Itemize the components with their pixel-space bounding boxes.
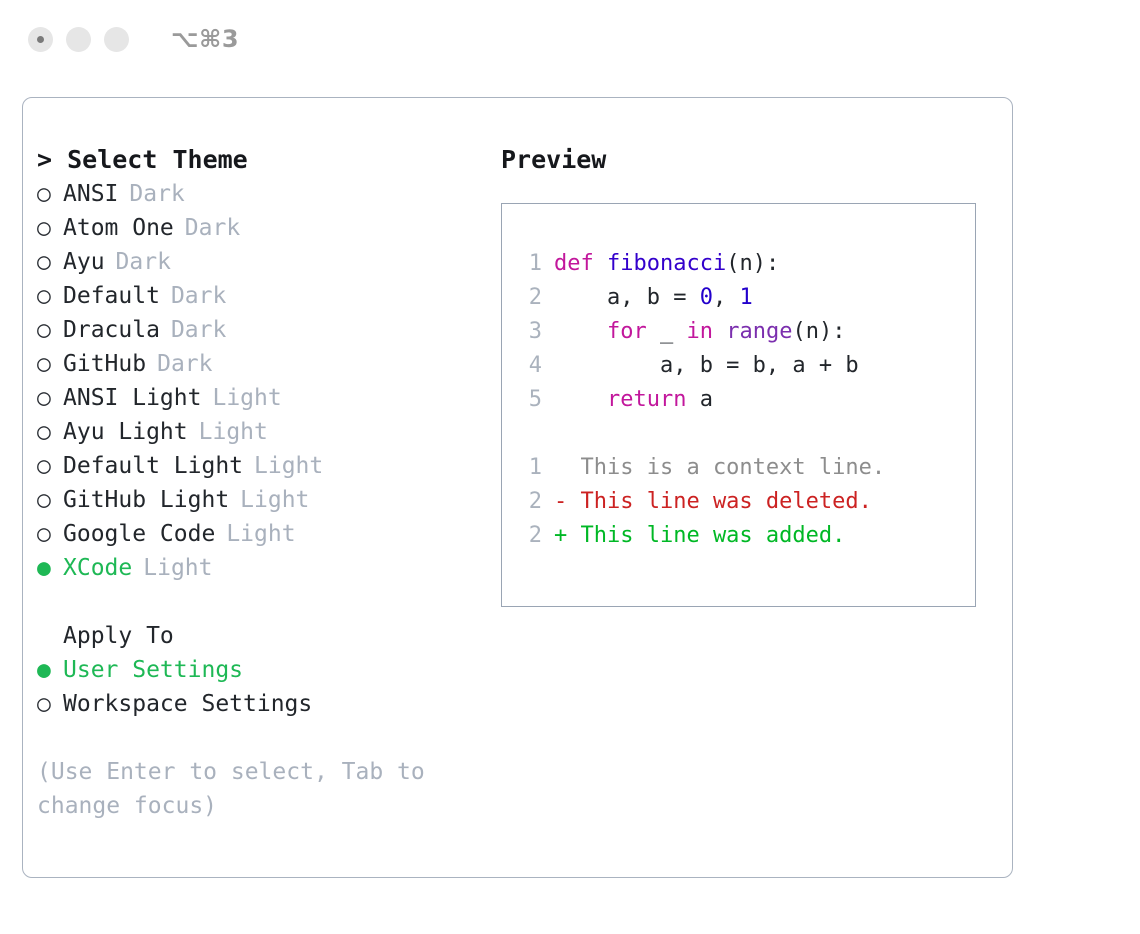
radio-unselected-icon[interactable]: ○ (37, 279, 63, 313)
theme-name: Dracula (63, 313, 160, 347)
line-number: 3 (514, 315, 542, 349)
code-diff-spacer (502, 417, 975, 451)
theme-row[interactable]: ○Default LightLight (37, 449, 497, 483)
theme-name: XCode (63, 551, 132, 585)
theme-name: Google Code (63, 517, 215, 551)
radio-unselected-icon[interactable]: ○ (37, 687, 63, 721)
theme-row[interactable]: ○Ayu LightLight (37, 415, 497, 449)
main-panel: > Select Theme ○ANSIDark○Atom OneDark○Ay… (22, 97, 1013, 878)
theme-variant-tag: Dark (171, 313, 226, 347)
title-bar: ⌥⌘3 (0, 0, 1140, 78)
code-token (554, 315, 607, 349)
app-window: ⌥⌘3 > Select Theme ○ANSIDark○Atom OneDar… (0, 0, 1140, 934)
code-token (594, 247, 607, 281)
theme-name: GitHub (63, 347, 146, 381)
code-token: + This line was added. (554, 519, 845, 553)
code-token (713, 315, 726, 349)
code-token: range (726, 315, 792, 349)
theme-row[interactable]: ○GitHub LightLight (37, 483, 497, 517)
radio-unselected-icon[interactable]: ○ (37, 313, 63, 347)
code-token: (n): (792, 315, 845, 349)
code-line: 2 a, b = 0, 1 (502, 281, 975, 315)
apply-to-label: Workspace Settings (63, 687, 312, 721)
code-token: a, b = b, a + b (554, 349, 859, 383)
line-number: 2 (514, 281, 542, 315)
theme-variant-tag: Light (226, 517, 295, 551)
theme-variant-tag: Light (254, 449, 323, 483)
theme-selector-column: > Select Theme ○ANSIDark○Atom OneDark○Ay… (37, 143, 497, 823)
theme-variant-tag: Dark (185, 211, 240, 245)
line-number: 2 (514, 519, 542, 553)
preview-heading: Preview (501, 143, 1001, 177)
select-theme-heading: > Select Theme (37, 143, 497, 177)
theme-name: Default (63, 279, 160, 313)
theme-variant-tag: Light (240, 483, 309, 517)
panel-columns: > Select Theme ○ANSIDark○Atom OneDark○Ay… (23, 98, 1012, 877)
code-token: This is a context line. (554, 451, 885, 485)
line-number: 1 (514, 451, 542, 485)
spacer (37, 585, 497, 619)
diff-line: 1 This is a context line. (502, 451, 975, 485)
theme-name: GitHub Light (63, 483, 229, 517)
code-line: 3 for _ in range(n): (502, 315, 975, 349)
theme-row[interactable]: ○DefaultDark (37, 279, 497, 313)
code-token: 0 (700, 281, 713, 315)
theme-row[interactable]: ○AyuDark (37, 245, 497, 279)
theme-name: Atom One (63, 211, 174, 245)
code-token: in (686, 315, 713, 349)
apply-to-row[interactable]: ○Workspace Settings (37, 687, 497, 721)
theme-variant-tag: Dark (129, 177, 184, 211)
window-controls (28, 27, 129, 52)
theme-variant-tag: Light (199, 415, 268, 449)
diff-sample: 1 This is a context line.2- This line wa… (502, 451, 975, 553)
diff-line: 2+ This line was added. (502, 519, 975, 553)
theme-row[interactable]: ○ANSIDark (37, 177, 497, 211)
radio-unselected-icon[interactable]: ○ (37, 415, 63, 449)
line-number: 4 (514, 349, 542, 383)
theme-name: ANSI Light (63, 381, 201, 415)
theme-variant-tag: Light (143, 551, 212, 585)
theme-name: Ayu (63, 245, 105, 279)
theme-name: ANSI (63, 177, 118, 211)
code-token: a, b = (554, 281, 700, 315)
apply-to-heading: Apply To (37, 619, 497, 653)
diff-line: 2- This line was deleted. (502, 485, 975, 519)
radio-unselected-icon[interactable]: ○ (37, 245, 63, 279)
theme-name: Ayu Light (63, 415, 188, 449)
code-line: 5 return a (502, 383, 975, 417)
radio-selected-icon[interactable]: ● (37, 551, 63, 585)
radio-unselected-icon[interactable]: ○ (37, 483, 63, 517)
radio-unselected-icon[interactable]: ○ (37, 449, 63, 483)
window-dot-2[interactable] (66, 27, 91, 52)
radio-unselected-icon[interactable]: ○ (37, 177, 63, 211)
theme-list: ○ANSIDark○Atom OneDark○AyuDark○DefaultDa… (37, 177, 497, 585)
apply-to-label: User Settings (63, 653, 243, 687)
line-number: 5 (514, 383, 542, 417)
code-token: return (607, 383, 686, 417)
line-number: 2 (514, 485, 542, 519)
radio-unselected-icon[interactable]: ○ (37, 347, 63, 381)
preview-column: Preview 1def fibonacci(n):2 a, b = 0, 13… (501, 143, 1001, 607)
code-token: a (686, 383, 713, 417)
radio-unselected-icon[interactable]: ○ (37, 381, 63, 415)
help-hint-text: (Use Enter to select, Tab to change focu… (37, 755, 437, 823)
radio-unselected-icon[interactable]: ○ (37, 211, 63, 245)
theme-name: Default Light (63, 449, 243, 483)
code-token (554, 383, 607, 417)
code-token: fibonacci (607, 247, 726, 281)
theme-variant-tag: Light (212, 381, 281, 415)
code-line: 4 a, b = b, a + b (502, 349, 975, 383)
theme-row[interactable]: ○Google CodeLight (37, 517, 497, 551)
theme-variant-tag: Dark (157, 347, 212, 381)
theme-row[interactable]: ○ANSI LightLight (37, 381, 497, 415)
code-token: 1 (739, 281, 752, 315)
theme-row[interactable]: ○DraculaDark (37, 313, 497, 347)
theme-row[interactable]: ○GitHubDark (37, 347, 497, 381)
code-token: _ (647, 315, 687, 349)
apply-to-list: ●User Settings○Workspace Settings (37, 653, 497, 721)
theme-row[interactable]: ○Atom OneDark (37, 211, 497, 245)
theme-variant-tag: Dark (171, 279, 226, 313)
code-token: - This line was deleted. (554, 485, 872, 519)
code-sample: 1def fibonacci(n):2 a, b = 0, 13 for _ i… (502, 247, 975, 417)
theme-row[interactable]: ●XCodeLight (37, 551, 497, 585)
theme-variant-tag: Dark (116, 245, 171, 279)
code-token: (n): (726, 247, 779, 281)
window-dot-3[interactable] (104, 27, 129, 52)
line-number: 1 (514, 247, 542, 281)
code-preview-box: 1def fibonacci(n):2 a, b = 0, 13 for _ i… (501, 203, 976, 607)
window-dot-active[interactable] (28, 27, 53, 52)
apply-to-row[interactable]: ●User Settings (37, 653, 497, 687)
code-token: , (713, 281, 740, 315)
active-dot-inner (37, 36, 44, 43)
code-line: 1def fibonacci(n): (502, 247, 975, 281)
radio-selected-icon[interactable]: ● (37, 653, 63, 687)
code-token: def (554, 247, 594, 281)
radio-unselected-icon[interactable]: ○ (37, 517, 63, 551)
keyboard-shortcut-label: ⌥⌘3 (171, 25, 239, 53)
code-token: for (607, 315, 647, 349)
